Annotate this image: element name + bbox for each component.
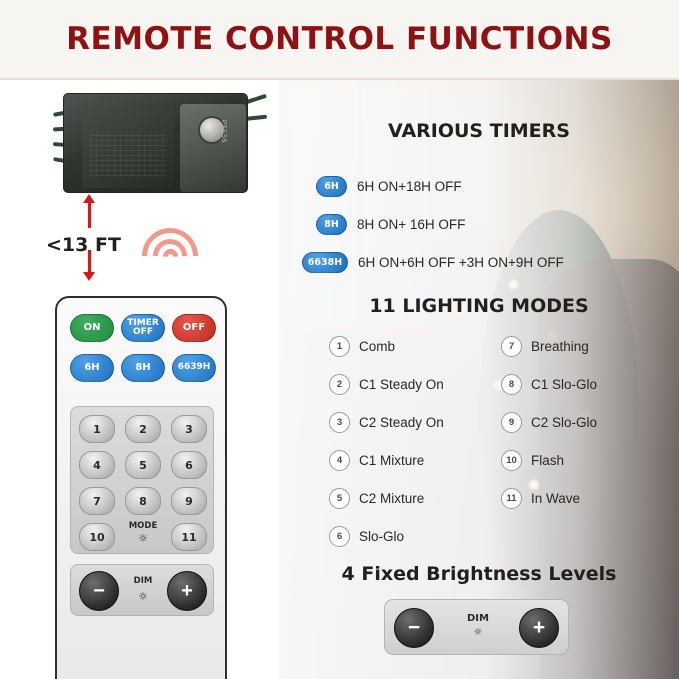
timers-title: VARIOUS TIMERS — [279, 120, 679, 142]
remote-key-9[interactable]: 9 — [171, 487, 207, 515]
right-panel: VARIOUS TIMERS 6H 6H ON+18H OFF 8H 8H ON… — [279, 80, 679, 679]
mode-label: C1 Mixture — [359, 453, 424, 468]
mode-label: C2 Slo-Glo — [531, 415, 597, 430]
brightness-dim-label: DIM — [451, 613, 505, 624]
remote-mode-label: MODE — [123, 521, 163, 531]
timer-row: 8H 8H ON+ 16H OFF — [316, 214, 465, 235]
timer-text: 8H ON+ 16H OFF — [357, 217, 465, 232]
mode-item-8: 8 C1 Slo-Glo — [501, 374, 597, 395]
modes-title: 11 LIGHTING MODES — [279, 295, 679, 317]
mode-item-7: 7 Breathing — [501, 336, 589, 357]
remote-on-button[interactable]: ON — [70, 314, 114, 342]
brightness-minus-button[interactable]: − — [394, 608, 434, 648]
led-controller-image: PRESS — [53, 88, 258, 198]
remote-key-3[interactable]: 3 — [171, 415, 207, 443]
controller-button-housing: PRESS — [180, 104, 246, 192]
mode-label: Slo-Glo — [359, 529, 404, 544]
brightness-plus-button[interactable]: + — [519, 608, 559, 648]
remote-key-8[interactable]: 8 — [125, 487, 161, 515]
remote-dim-minus-button[interactable]: − — [79, 571, 119, 611]
controller-body: PRESS — [63, 93, 248, 193]
mode-item-2: 2 C1 Steady On — [329, 374, 444, 395]
mode-number: 1 — [329, 336, 350, 357]
timer-badge-6h: 6H — [316, 176, 347, 197]
remote-8h-button[interactable]: 8H — [121, 354, 165, 382]
left-panel: PRESS <13 FT ON TIMEROFF OFF 6H 8H 663 — [0, 80, 279, 679]
brightness-control: − DIM ☼ + — [384, 599, 569, 655]
page-root: REMOTE CONTROL FUNCTIONS PRESS — [0, 0, 679, 679]
remote-off-button[interactable]: OFF — [172, 314, 216, 342]
page-title: REMOTE CONTROL FUNCTIONS — [66, 21, 613, 57]
remote-key-10[interactable]: 10 — [79, 523, 115, 551]
timer-row: 6638H 6H ON+6H OFF +3H ON+9H OFF — [302, 252, 564, 273]
mode-item-6: 6 Slo-Glo — [329, 526, 404, 547]
mode-item-4: 4 C1 Mixture — [329, 450, 424, 471]
mode-number: 11 — [501, 488, 522, 509]
mode-number: 10 — [501, 450, 522, 471]
mode-item-1: 1 Comb — [329, 336, 395, 357]
remote-dim-label: DIM — [121, 576, 165, 586]
remote-key-6[interactable]: 6 — [171, 451, 207, 479]
remote-key-11[interactable]: 11 — [171, 523, 207, 551]
distance-label: <13 FT — [46, 234, 121, 256]
mode-label: In Wave — [531, 491, 580, 506]
mode-number: 5 — [329, 488, 350, 509]
mode-number: 6 — [329, 526, 350, 547]
controller-text-grid — [90, 132, 166, 176]
remote-timer-off-button[interactable]: TIMEROFF — [121, 314, 165, 342]
mode-item-9: 9 C2 Slo-Glo — [501, 412, 597, 433]
mode-label: C1 Slo-Glo — [531, 377, 597, 392]
remote-image: ON TIMEROFF OFF 6H 8H 6639H 1 2 3 4 5 6 … — [55, 296, 227, 679]
brightness-sun-icon: ☼ — [123, 533, 163, 544]
distance-indicator: <13 FT — [46, 228, 246, 276]
arrow-up-icon — [88, 202, 91, 228]
remote-dim-sun-icon: ☼ — [121, 591, 165, 602]
remote-dim-plus-button[interactable]: + — [167, 571, 207, 611]
remote-key-2[interactable]: 2 — [125, 415, 161, 443]
mode-label: C2 Steady On — [359, 415, 444, 430]
mode-label: Comb — [359, 339, 395, 354]
mode-number: 2 — [329, 374, 350, 395]
timer-text: 6H ON+6H OFF +3H ON+9H OFF — [358, 255, 564, 270]
mode-number: 9 — [501, 412, 522, 433]
mode-item-3: 3 C2 Steady On — [329, 412, 444, 433]
mode-number: 3 — [329, 412, 350, 433]
remote-key-4[interactable]: 4 — [79, 451, 115, 479]
remote-6639h-button[interactable]: 6639H — [172, 354, 216, 382]
remote-key-7[interactable]: 7 — [79, 487, 115, 515]
mode-label: Breathing — [531, 339, 589, 354]
page-header: REMOTE CONTROL FUNCTIONS — [0, 0, 679, 78]
remote-keypad: 1 2 3 4 5 6 7 8 9 10 11 MODE ☼ — [70, 406, 214, 554]
mode-item-11: 11 In Wave — [501, 488, 580, 509]
controller-press-label: PRESS — [220, 120, 226, 143]
mode-number: 7 — [501, 336, 522, 357]
mode-number: 8 — [501, 374, 522, 395]
mode-item-5: 5 C2 Mixture — [329, 488, 424, 509]
timer-text: 6H ON+18H OFF — [357, 179, 462, 194]
wifi-signal-icon — [142, 228, 208, 268]
right-content: VARIOUS TIMERS 6H 6H ON+18H OFF 8H 8H ON… — [279, 80, 679, 679]
timer-badge-8h: 8H — [316, 214, 347, 235]
remote-timer-row: 6H 8H 6639H — [70, 354, 216, 382]
mode-label: Flash — [531, 453, 564, 468]
mode-label: C2 Mixture — [359, 491, 424, 506]
mode-number: 4 — [329, 450, 350, 471]
brightness-sun-icon: ☼ — [451, 628, 505, 638]
remote-key-5[interactable]: 5 — [125, 451, 161, 479]
controller-label-panel — [82, 108, 174, 188]
mode-label: C1 Steady On — [359, 377, 444, 392]
brightness-title: 4 Fixed Brightness Levels — [279, 563, 679, 585]
timer-row: 6H 6H ON+18H OFF — [316, 176, 462, 197]
timer-badge-6638h: 6638H — [302, 252, 348, 273]
mode-item-10: 10 Flash — [501, 450, 564, 471]
remote-6h-button[interactable]: 6H — [70, 354, 114, 382]
remote-key-1[interactable]: 1 — [79, 415, 115, 443]
remote-dim-bar: − DIM ☼ + — [70, 564, 214, 616]
remote-top-row: ON TIMEROFF OFF — [70, 314, 216, 342]
